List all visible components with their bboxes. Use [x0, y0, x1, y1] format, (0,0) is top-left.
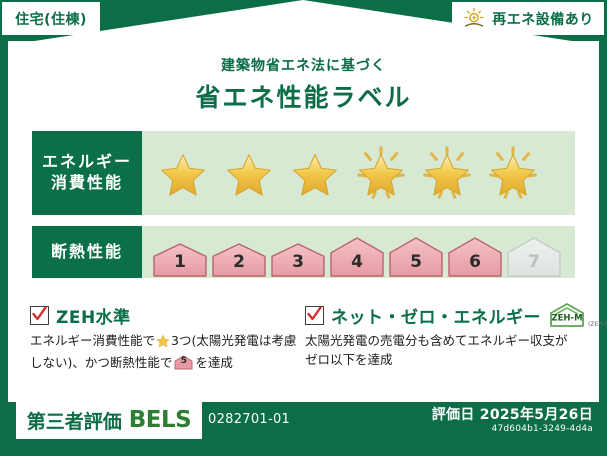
insulation-performance-row: 断熱性能 1 — [32, 226, 575, 278]
bels-en-label: BELS — [129, 407, 191, 433]
star-icon — [156, 334, 170, 353]
net-zero-energy-claim-head: ネット・ゼロ・エネルギー ZEH-M (ZEH-M) — [305, 303, 575, 327]
building-type-badge: 住宅(住棟) — [2, 2, 100, 35]
insulation-level-badge: 4 — [329, 236, 385, 278]
zeh-standard-title: ZEH水準 — [56, 303, 131, 328]
net-zero-energy-body: 太陽光発電の売電分も含めてエネルギー収支がゼロ以下を達成 — [305, 331, 575, 370]
energy-performance-key: エネルギー 消費性能 — [32, 131, 142, 215]
net-zero-energy-claim: ネット・ゼロ・エネルギー ZEH-M (ZEH-M) 太陽光発電の売電分も含めて… — [305, 303, 575, 370]
insulation-level-value: 5 — [388, 252, 444, 272]
sun-solar-icon — [462, 7, 486, 31]
evaluation-hash: 47d604b1-3249-4d4a — [492, 424, 593, 434]
bels-number: 0282701-01 — [208, 412, 290, 427]
net-zero-energy-title: ネット・ゼロ・エネルギー — [331, 303, 541, 328]
zeh-standard-claim-head: ZEH水準 — [30, 303, 300, 327]
insulation-level-value: 1 — [152, 252, 208, 272]
insulation-performance-key-label: 断熱性能 — [51, 242, 123, 263]
zeh-standard-checkbox[interactable] — [30, 306, 49, 325]
energy-performance-value — [142, 131, 575, 215]
renewable-equipment-badge-label: 再エネ設備あり — [492, 9, 594, 29]
label-title: 省エネ性能ラベル — [0, 78, 607, 114]
bels-plate: 第三者評価 BELS — [16, 401, 202, 439]
insulation-level-value: 3 — [270, 252, 326, 272]
insulation-level-group: 1 2 3 — [152, 226, 569, 278]
label-subtitle: 建築物省エネ法に基づく — [0, 55, 607, 75]
insulation-level-badge: 2 — [211, 242, 267, 278]
zeh-standard-body: エネルギー消費性能で3つ(太陽光発電は考慮しない)、かつ断熱性能で5を達成 — [30, 331, 300, 373]
renewable-equipment-badge: 再エネ設備あり — [452, 2, 604, 35]
svg-text:ZEH-M: ZEH-M — [551, 314, 582, 324]
insulation-level-value: 2 — [211, 252, 267, 272]
star-icon — [150, 131, 216, 215]
insulation-level-badge: 1 — [152, 242, 208, 278]
insulation-level-value: 7 — [506, 252, 562, 272]
zeh-standard-body-part3: を達成 — [195, 355, 233, 370]
energy-performance-label: 住宅(住棟) 再エネ設備あり 建築物省エネ法に基づく 省エネ性能ラベル 太陽光発… — [0, 0, 607, 456]
star-icon-solar — [348, 131, 414, 215]
inline-insulation-level-icon: 5 — [174, 355, 193, 370]
zeh-standard-body-part1: エネルギー消費性能で — [30, 333, 155, 348]
insulation-performance-value: 1 2 3 — [142, 226, 575, 278]
insulation-level-badge: 5 — [388, 236, 444, 278]
insulation-level-badge: 6 — [447, 236, 503, 278]
energy-performance-key-line1: エネルギー — [42, 152, 132, 173]
zeh-m-logo-sub: (ZEH-M) — [588, 321, 607, 328]
star-icon-solar — [414, 131, 480, 215]
zeh-standard-claim: ZEH水準 エネルギー消費性能で3つ(太陽光発電は考慮しない)、かつ断熱性能で5… — [30, 303, 300, 373]
star-icon — [216, 131, 282, 215]
insulation-performance-key: 断熱性能 — [32, 226, 142, 278]
bels-jp-label: 第三者評価 — [27, 407, 122, 434]
net-zero-energy-checkbox[interactable] — [305, 306, 324, 325]
building-type-badge-label: 住宅(住棟) — [15, 9, 87, 29]
energy-performance-row: エネルギー 消費性能 — [32, 131, 575, 215]
insulation-level-badge: 3 — [270, 242, 326, 278]
energy-performance-key-line2: 消費性能 — [51, 173, 123, 194]
zeh-m-logo: ZEH-M (ZEH-M) — [548, 302, 607, 328]
insulation-level-value: 4 — [329, 252, 385, 272]
evaluation-date: 評価日 2025年5月26日 — [432, 404, 593, 424]
star-icon — [282, 131, 348, 215]
insulation-level-badge: 7 — [506, 236, 562, 278]
star-icon-solar — [480, 131, 546, 215]
star-rating-group — [150, 131, 571, 215]
inline-insulation-level-value: 5 — [174, 355, 193, 369]
insulation-level-value: 6 — [447, 252, 503, 272]
